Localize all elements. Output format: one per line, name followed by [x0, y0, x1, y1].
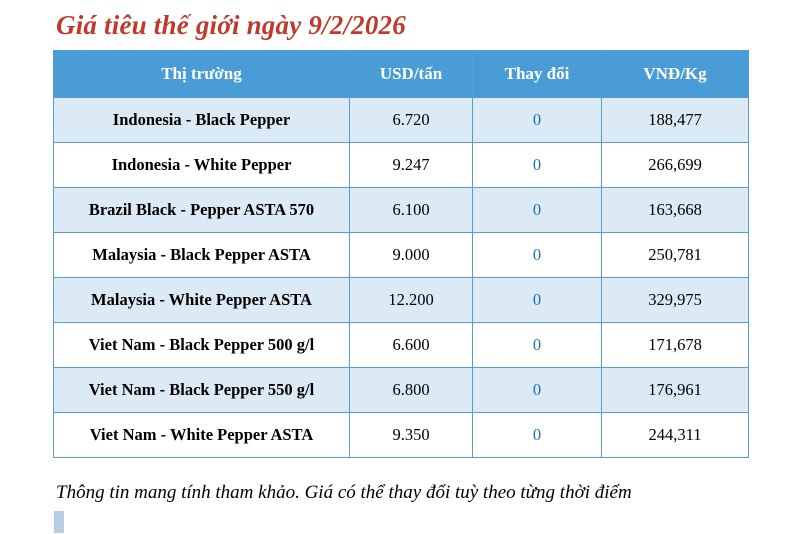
table-header-row: Thị trường USD/tấn Thay đổi VNĐ/Kg: [54, 51, 749, 98]
table-row: Malaysia - Black Pepper ASTA 9.000 0 250…: [54, 233, 749, 278]
cell-change: 0: [473, 98, 602, 143]
cell-usd: 12.200: [350, 278, 473, 323]
cell-market: Viet Nam - Black Pepper 550 g/l: [54, 368, 350, 413]
cell-change: 0: [473, 143, 602, 188]
cell-vnd: 329,975: [602, 278, 749, 323]
table-header: Thị trường USD/tấn Thay đổi VNĐ/Kg: [54, 51, 749, 98]
table-row: Viet Nam - White Pepper ASTA 9.350 0 244…: [54, 413, 749, 458]
cell-vnd: 176,961: [602, 368, 749, 413]
cell-market: Indonesia - Black Pepper: [54, 98, 350, 143]
column-header-market: Thị trường: [54, 51, 350, 98]
table-row: Indonesia - Black Pepper 6.720 0 188,477: [54, 98, 749, 143]
table-body: Indonesia - Black Pepper 6.720 0 188,477…: [54, 98, 749, 458]
cell-usd: 9.247: [350, 143, 473, 188]
table-row: Viet Nam - Black Pepper 500 g/l 6.600 0 …: [54, 323, 749, 368]
cell-usd: 6.100: [350, 188, 473, 233]
cell-change: 0: [473, 368, 602, 413]
cell-vnd: 171,678: [602, 323, 749, 368]
cell-change: 0: [473, 278, 602, 323]
cell-usd: 6.600: [350, 323, 473, 368]
cell-change: 0: [473, 233, 602, 278]
page-title: Giá tiêu thế giới ngày 9/2/2026: [56, 10, 406, 41]
table-row: Indonesia - White Pepper 9.247 0 266,699: [54, 143, 749, 188]
cell-market: Malaysia - Black Pepper ASTA: [54, 233, 350, 278]
cell-vnd: 244,311: [602, 413, 749, 458]
cell-usd: 6.800: [350, 368, 473, 413]
column-header-vnd: VNĐ/Kg: [602, 51, 749, 98]
footnote-text: Thông tin mang tính tham khảo. Giá có th…: [56, 482, 632, 504]
table-row: Viet Nam - Black Pepper 550 g/l 6.800 0 …: [54, 368, 749, 413]
cell-market: Viet Nam - White Pepper ASTA: [54, 413, 350, 458]
column-header-usd: USD/tấn: [350, 51, 473, 98]
cell-usd: 9.350: [350, 413, 473, 458]
cell-vnd: 163,668: [602, 188, 749, 233]
price-table: Thị trường USD/tấn Thay đổi VNĐ/Kg Indon…: [53, 50, 749, 458]
slide-page: Giá tiêu thế giới ngày 9/2/2026 Thị trườ…: [0, 0, 800, 534]
cell-usd: 9.000: [350, 233, 473, 278]
cell-vnd: 266,699: [602, 143, 749, 188]
cell-market: Malaysia - White Pepper ASTA: [54, 278, 350, 323]
table-row: Malaysia - White Pepper ASTA 12.200 0 32…: [54, 278, 749, 323]
cell-market: Brazil Black - Pepper ASTA 570: [54, 188, 350, 233]
cell-vnd: 250,781: [602, 233, 749, 278]
cell-change: 0: [473, 323, 602, 368]
table-row: Brazil Black - Pepper ASTA 570 6.100 0 1…: [54, 188, 749, 233]
price-table-container: Thị trường USD/tấn Thay đổi VNĐ/Kg Indon…: [53, 50, 748, 458]
cell-vnd: 188,477: [602, 98, 749, 143]
cell-change: 0: [473, 188, 602, 233]
cell-market: Viet Nam - Black Pepper 500 g/l: [54, 323, 350, 368]
column-header-change: Thay đổi: [473, 51, 602, 98]
decorative-marker: [54, 511, 64, 533]
cell-change: 0: [473, 413, 602, 458]
cell-market: Indonesia - White Pepper: [54, 143, 350, 188]
cell-usd: 6.720: [350, 98, 473, 143]
